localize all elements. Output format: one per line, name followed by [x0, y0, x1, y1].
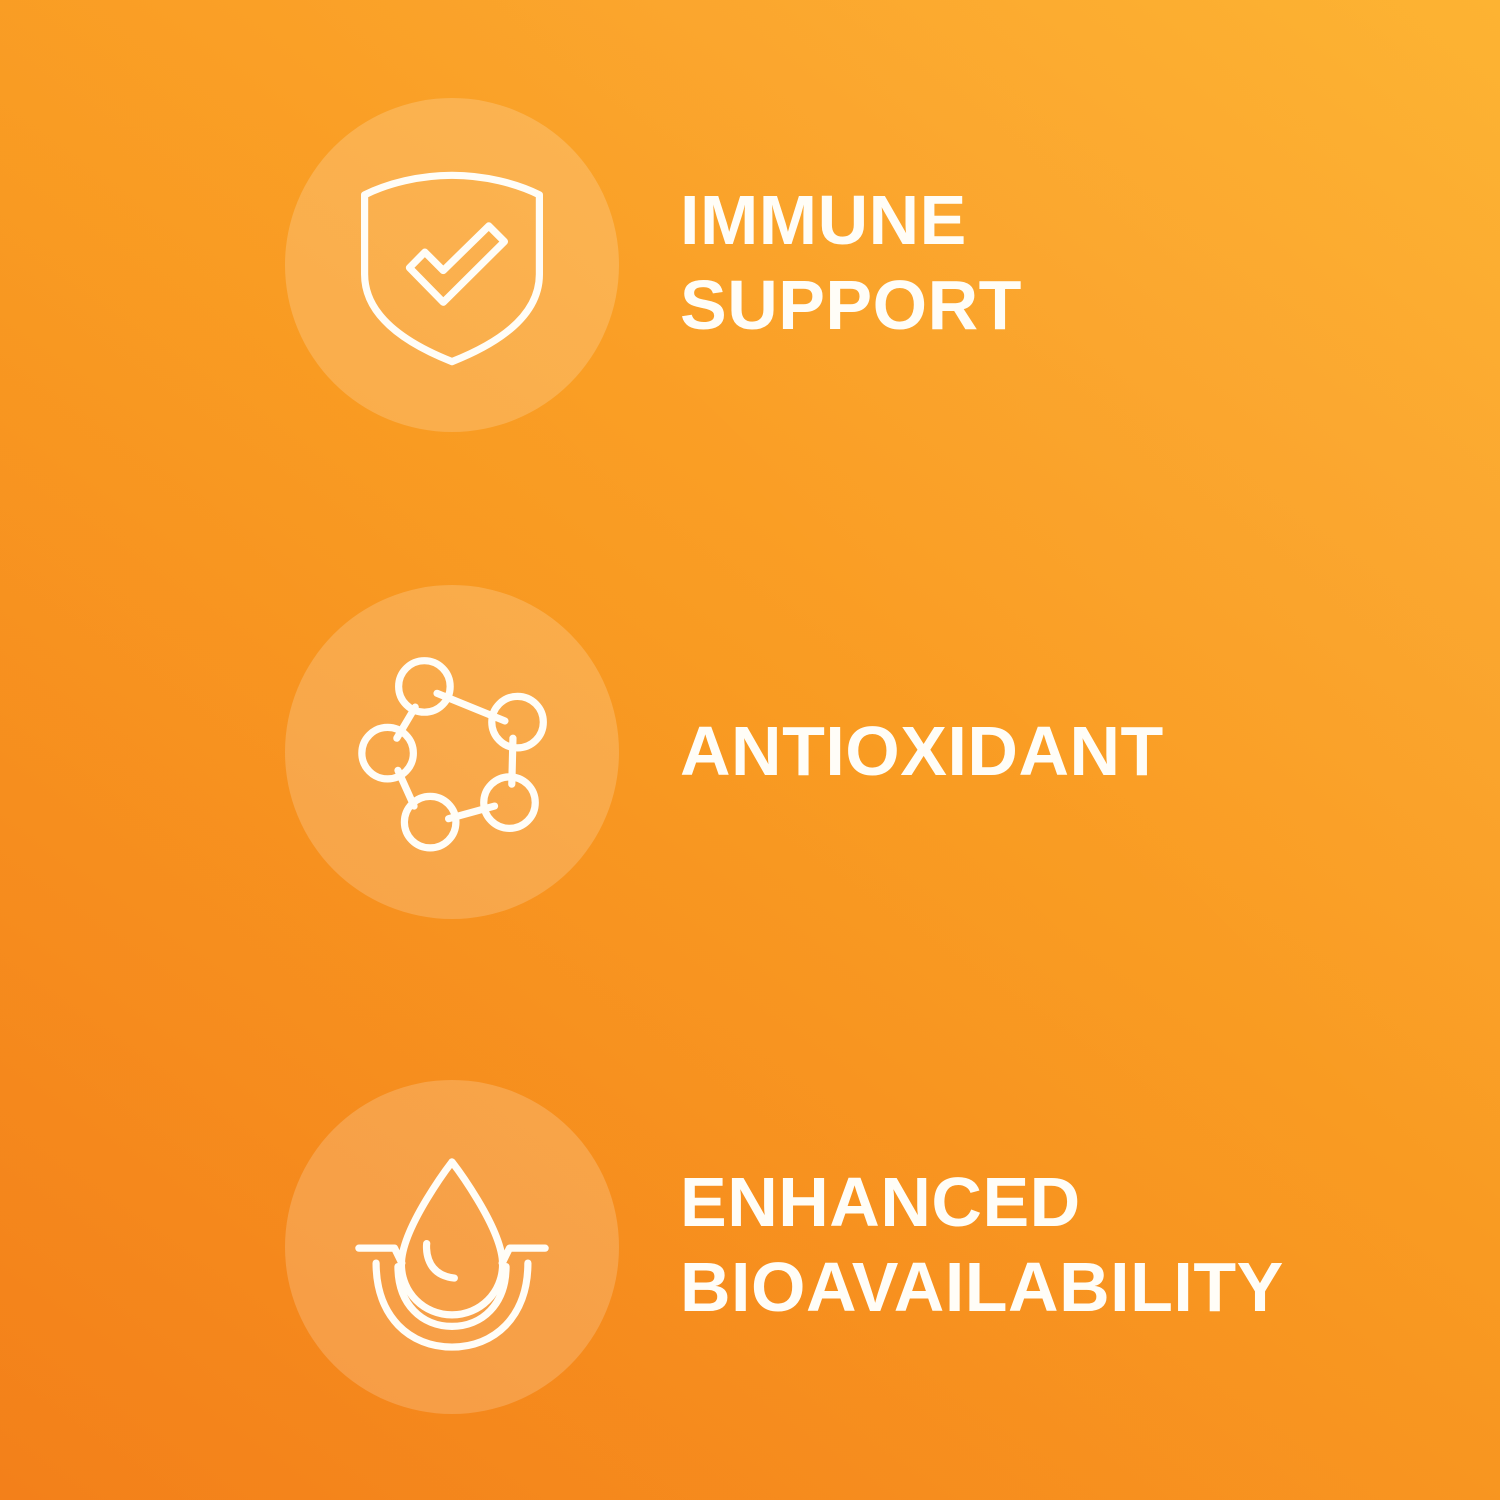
benefit-icon-badge	[285, 585, 619, 919]
benefit-icon-badge	[285, 1080, 619, 1414]
water-droplet-ripple-icon	[337, 1132, 567, 1362]
infographic-canvas: IMMUNE SUPPORT	[0, 0, 1500, 1500]
benefit-row-antioxidant: ANTIOXIDANT	[0, 585, 1500, 919]
benefits-list: IMMUNE SUPPORT	[0, 0, 1500, 1500]
benefit-icon-badge	[285, 98, 619, 432]
molecule-icon	[337, 637, 567, 867]
benefit-label: IMMUNE SUPPORT	[680, 178, 1470, 348]
shield-check-icon	[337, 150, 567, 380]
benefit-row-enhanced-bioavailability: ENHANCED BIOAVAILABILITY	[0, 1080, 1500, 1414]
benefit-label: ANTIOXIDANT	[680, 709, 1470, 794]
benefit-label: ENHANCED BIOAVAILABILITY	[680, 1160, 1470, 1330]
benefit-row-immune-support: IMMUNE SUPPORT	[0, 98, 1500, 432]
